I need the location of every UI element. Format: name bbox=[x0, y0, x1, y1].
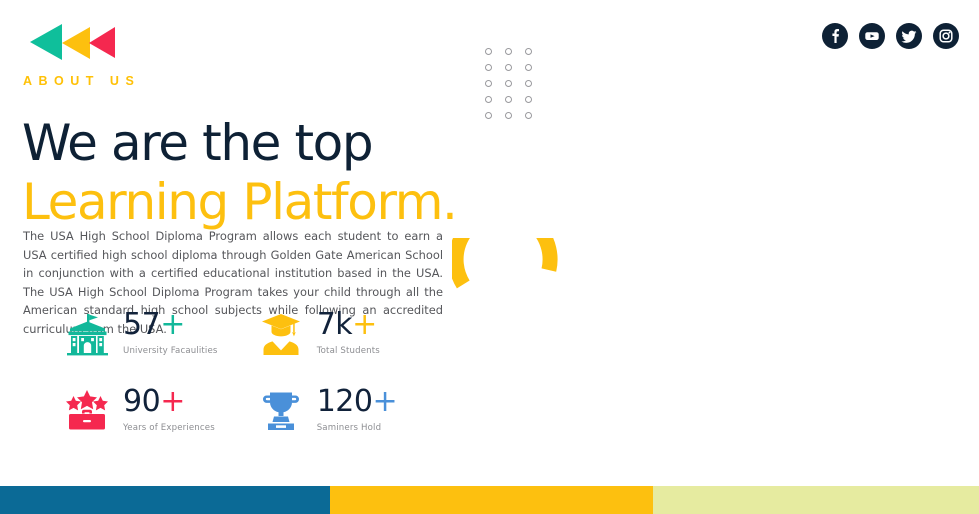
stat-plus: + bbox=[160, 307, 185, 342]
stat-value: 57+ bbox=[123, 307, 185, 342]
graduate-student-icon bbox=[254, 308, 308, 360]
stat-total-students: 7k+ Total Students bbox=[254, 308, 420, 360]
stats-row: 57+ University Facaulities bbox=[60, 308, 420, 360]
twitter-icon[interactable] bbox=[896, 23, 922, 49]
stat-plus: + bbox=[160, 384, 185, 419]
university-building-icon bbox=[60, 308, 114, 360]
stat-text: 120+ Saminers Hold bbox=[317, 385, 420, 435]
stat-value: 7k+ bbox=[317, 307, 377, 342]
stat-plus: + bbox=[352, 307, 377, 342]
instagram-icon[interactable] bbox=[933, 23, 959, 49]
stat-text: 90+ Years of Experiences bbox=[123, 385, 254, 435]
bar-blue bbox=[0, 486, 330, 514]
stats-row: 90+ Years of Experiences bbox=[60, 385, 420, 437]
stat-value: 120+ bbox=[317, 384, 397, 419]
dot bbox=[485, 96, 492, 103]
stat-label: Saminers Hold bbox=[317, 423, 381, 433]
dot bbox=[525, 80, 532, 87]
stat-label: Total Students bbox=[317, 346, 380, 356]
bar-pale bbox=[653, 486, 979, 514]
social-links bbox=[822, 23, 959, 49]
stat-years-experience: 90+ Years of Experiences bbox=[60, 385, 254, 437]
stat-seminars-hold: 120+ Saminers Hold bbox=[254, 385, 420, 437]
dot bbox=[505, 64, 512, 71]
dot bbox=[505, 96, 512, 103]
dot bbox=[485, 112, 492, 119]
headline-line-1: We are the top bbox=[22, 118, 482, 170]
facebook-icon[interactable] bbox=[822, 23, 848, 49]
stat-label: University Facaulities bbox=[123, 346, 218, 356]
dot bbox=[525, 64, 532, 71]
section-eyebrow: ABOUT US bbox=[23, 74, 140, 88]
stat-plus: + bbox=[372, 384, 397, 419]
dot bbox=[525, 112, 532, 119]
about-us-page: ABOUT US We are the top Learning Platfor… bbox=[0, 0, 979, 514]
youtube-icon[interactable] bbox=[859, 23, 885, 49]
dot bbox=[525, 48, 532, 55]
dot-grid-pattern bbox=[485, 48, 545, 128]
dot bbox=[525, 96, 532, 103]
stats-grid: 57+ University Facaulities bbox=[60, 308, 420, 437]
dot bbox=[485, 64, 492, 71]
bar-yellow bbox=[330, 486, 653, 514]
dot bbox=[505, 80, 512, 87]
stat-value: 90+ bbox=[123, 384, 185, 419]
briefcase-stars-icon bbox=[60, 385, 114, 437]
stat-label: Years of Experiences bbox=[123, 423, 215, 433]
headline-line-2: Learning Platform. bbox=[22, 177, 482, 229]
dot bbox=[485, 80, 492, 87]
triple-arrow-logo[interactable] bbox=[22, 20, 118, 62]
stat-university-facilities: 57+ University Facaulities bbox=[60, 308, 254, 360]
bottom-color-bars bbox=[0, 486, 979, 514]
stat-text: 7k+ Total Students bbox=[317, 308, 420, 358]
dot bbox=[505, 112, 512, 119]
dot bbox=[485, 48, 492, 55]
stat-text: 57+ University Facaulities bbox=[123, 308, 254, 358]
trophy-icon bbox=[254, 385, 308, 437]
page-title: We are the top Learning Platform. bbox=[22, 118, 482, 228]
open-ring-decoration bbox=[452, 238, 566, 352]
dot bbox=[505, 48, 512, 55]
